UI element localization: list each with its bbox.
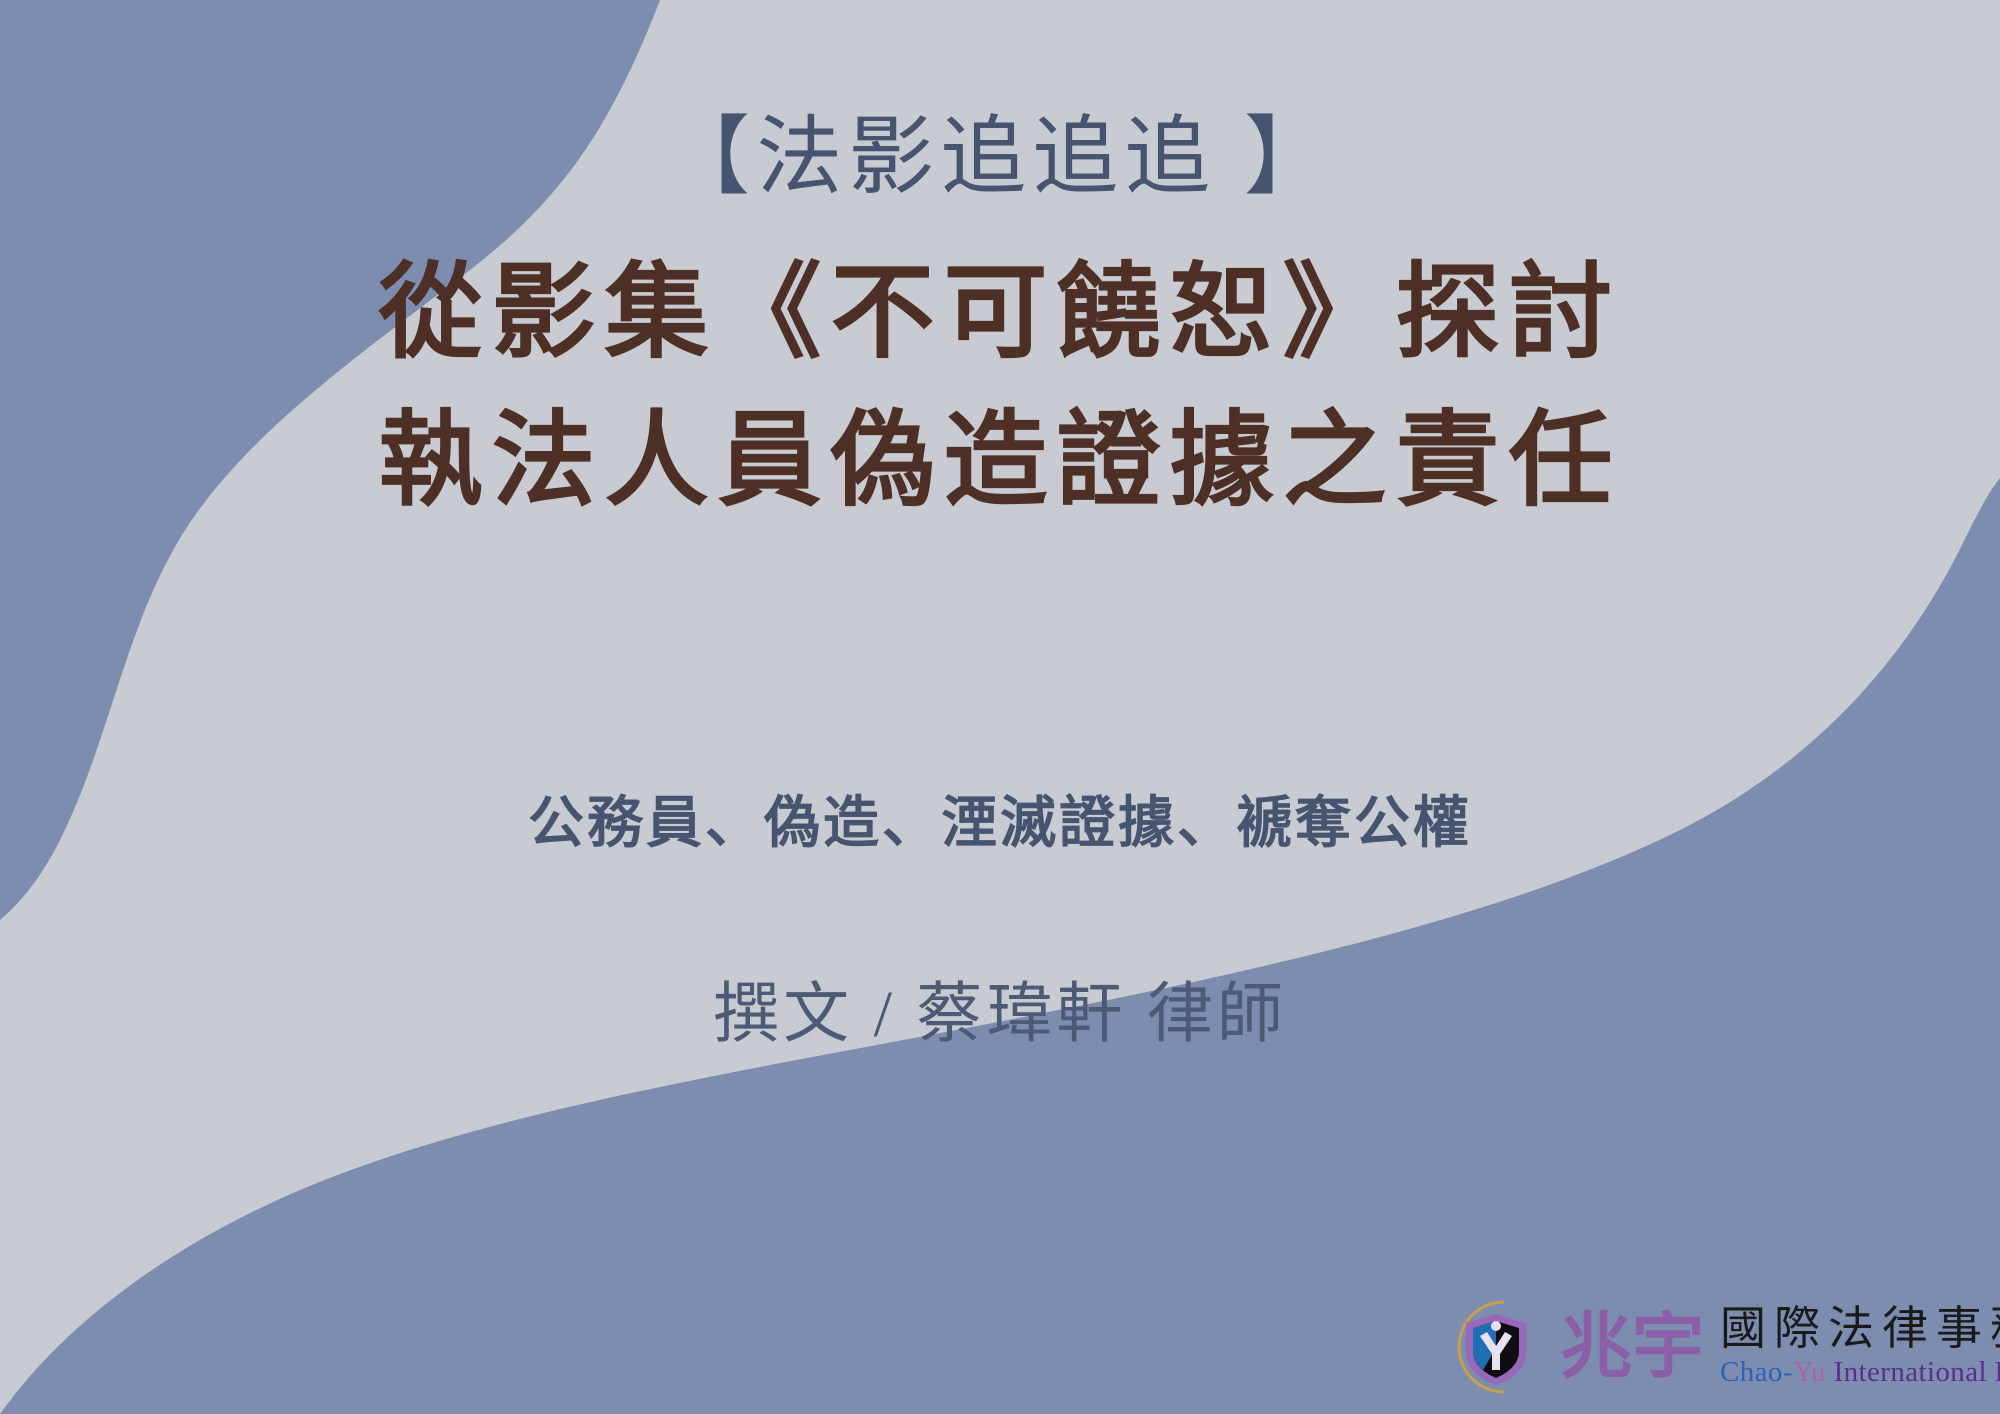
author-byline: 撰文 / 蔡瑋軒 律師 — [0, 960, 2000, 1056]
title-line-2: 執法人員偽造證據之責任 — [0, 388, 2000, 536]
firm-logo: 兆宇 國際法律事務所 Chao-Yu International Law Fir… — [1442, 1296, 2000, 1398]
keywords-line: 公務員、偽造、湮滅證據、褫奪公權 — [0, 778, 2000, 859]
title-line-1: 從影集《不可饒恕》探討 — [0, 240, 2000, 388]
slide-content: 【法影追追追 】 從影集《不可饒恕》探討 執法人員偽造證據之責任 公務員、偽造、… — [0, 0, 2000, 1414]
shield-crescent-logo-icon — [1442, 1296, 1550, 1398]
logo-firm-name-cn: 國際法律事務所 — [1720, 1305, 2000, 1353]
page-title: 從影集《不可饒恕》探討 執法人員偽造證據之責任 — [0, 240, 2000, 535]
series-label: 【法影追追追 】 — [0, 108, 2000, 207]
shield-head-dot — [1491, 1321, 1501, 1331]
logo-firm-name-en: Chao-Yu International Law Firm — [1720, 1357, 2000, 1389]
logo-en-part-2: Yu — [1793, 1356, 1826, 1388]
logo-wordmark: 國際法律事務所 Chao-Yu International Law Firm — [1720, 1305, 2000, 1388]
logo-brand-name: 兆宇 — [1560, 1311, 1704, 1383]
logo-en-part-3: International Law Firm — [1826, 1356, 2000, 1388]
slide-canvas: 【法影追追追 】 從影集《不可饒恕》探討 執法人員偽造證據之責任 公務員、偽造、… — [0, 0, 2000, 1414]
logo-en-part-1: Chao- — [1720, 1356, 1793, 1388]
